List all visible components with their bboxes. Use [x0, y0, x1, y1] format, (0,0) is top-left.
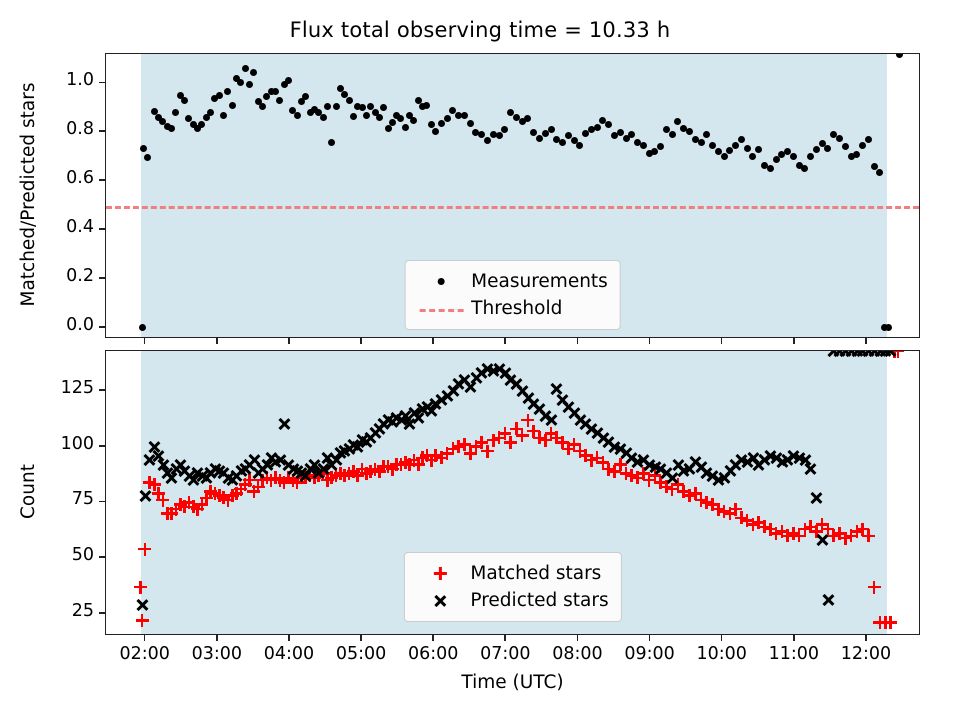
data-point — [867, 580, 882, 595]
data-point — [397, 115, 404, 122]
data-point — [559, 139, 566, 146]
data-point — [363, 112, 370, 119]
legend-label-threshold: Threshold — [465, 298, 562, 319]
data-point — [461, 112, 468, 119]
y-tick-mark — [99, 556, 105, 558]
data-point — [674, 118, 681, 125]
data-point — [350, 113, 357, 120]
x-tick-mark — [504, 338, 506, 344]
x-tick-mark — [216, 338, 218, 344]
data-point — [524, 115, 531, 122]
y-tick-label: 0.0 — [66, 315, 94, 335]
x-tick-label: 11:00 — [754, 644, 834, 664]
y-tick-mark — [99, 501, 105, 503]
data-point — [277, 417, 292, 432]
y-tick-label: 125 — [61, 378, 94, 398]
legend-label-measurements: Measurements — [465, 271, 608, 292]
x-tick-label: 07:00 — [465, 644, 545, 664]
x-tick-label: 10:00 — [682, 644, 762, 664]
y-tick-label: 0.6 — [66, 168, 94, 188]
data-point — [294, 112, 301, 119]
data-point — [229, 102, 236, 109]
figure-canvas: Flux total observing time = 10.33 h Matc… — [0, 0, 960, 720]
y-tick-mark — [99, 445, 105, 447]
data-point — [328, 139, 335, 146]
data-point — [346, 97, 353, 104]
y-tick-mark — [99, 277, 105, 279]
legend-label-predicted-stars: Predicted stars — [464, 590, 608, 611]
y-tick-mark — [99, 179, 105, 181]
data-point — [617, 129, 624, 136]
data-point — [135, 597, 150, 612]
y-axis-label-count: Count — [18, 349, 39, 634]
data-point — [432, 128, 439, 135]
x-tick-label: 03:00 — [177, 644, 257, 664]
x-tick-mark — [865, 635, 867, 641]
legend-item-measurements[interactable]: Measurements — [417, 268, 608, 295]
data-point — [628, 131, 635, 138]
data-point — [385, 125, 392, 132]
data-point — [824, 145, 831, 152]
y-tick-mark — [99, 130, 105, 132]
x-tick-mark — [432, 635, 434, 641]
data-point — [220, 112, 227, 119]
matched-stars-plus-icon — [416, 563, 464, 585]
data-point — [820, 593, 835, 608]
data-point — [140, 145, 147, 152]
data-point — [484, 137, 491, 144]
x-tick-mark — [721, 635, 723, 641]
ratio-panel-legend[interactable]: Measurements Threshold — [404, 260, 621, 330]
data-point — [883, 615, 898, 630]
data-point — [444, 115, 451, 122]
y-tick-label: 0.2 — [66, 266, 94, 286]
data-point — [423, 102, 430, 109]
data-point — [302, 93, 309, 100]
y-tick-mark — [99, 228, 105, 230]
data-point — [548, 126, 555, 133]
data-point — [865, 136, 872, 143]
data-point — [320, 114, 327, 121]
y-tick-mark — [99, 82, 105, 84]
data-point — [242, 65, 249, 72]
legend-item-predicted-stars[interactable]: Predicted stars — [416, 587, 608, 614]
data-point — [133, 580, 148, 595]
x-tick-mark — [432, 338, 434, 344]
data-point — [135, 613, 150, 628]
y-tick-mark — [99, 612, 105, 614]
data-point — [698, 139, 705, 146]
data-point — [496, 132, 503, 139]
legend-label-matched-stars: Matched stars — [464, 563, 601, 584]
data-point — [859, 142, 866, 149]
data-point — [144, 154, 151, 161]
x-tick-label: 06:00 — [393, 644, 473, 664]
x-axis-label: Time (UTC) — [105, 672, 920, 693]
x-tick-mark — [577, 338, 579, 344]
y-tick-label: 1.0 — [66, 70, 94, 90]
data-point — [896, 53, 903, 58]
data-point — [530, 129, 537, 136]
threshold-dash-icon — [417, 298, 465, 320]
y-tick-label: 75 — [72, 489, 94, 509]
y-tick-label: 0.4 — [66, 217, 94, 237]
data-point — [703, 131, 710, 138]
data-point — [380, 104, 387, 111]
page-title: Flux total observing time = 10.33 h — [0, 18, 960, 42]
data-point — [815, 533, 830, 548]
data-point — [803, 462, 818, 477]
x-tick-mark — [360, 338, 362, 344]
x-tick-mark — [793, 338, 795, 344]
data-point — [216, 92, 223, 99]
threshold-line — [106, 206, 919, 209]
data-point — [885, 324, 892, 331]
data-point — [272, 88, 279, 95]
data-point — [749, 153, 756, 160]
y-tick-label: 25 — [72, 601, 94, 621]
data-point — [137, 542, 152, 557]
data-point — [438, 120, 445, 127]
measurements-marker-icon — [417, 271, 465, 293]
data-point — [246, 81, 253, 88]
x-tick-label: 05:00 — [321, 644, 401, 664]
x-tick-mark — [504, 635, 506, 641]
data-point — [501, 126, 508, 133]
x-tick-mark — [144, 635, 146, 641]
x-tick-label: 04:00 — [249, 644, 329, 664]
data-point — [721, 153, 728, 160]
x-tick-mark — [649, 635, 651, 641]
data-point — [237, 79, 244, 86]
data-point — [640, 142, 647, 149]
data-point — [285, 77, 292, 84]
data-point — [605, 121, 612, 128]
x-tick-mark — [721, 338, 723, 344]
x-tick-mark — [649, 338, 651, 344]
legend-item-matched-stars[interactable]: Matched stars — [416, 560, 608, 587]
data-point — [669, 131, 676, 138]
ratio-panel-axes: Measurements Threshold — [105, 53, 920, 338]
data-point — [594, 124, 601, 131]
data-point — [536, 135, 543, 142]
data-point — [732, 142, 739, 149]
x-tick-label: 12:00 — [826, 644, 906, 664]
data-point — [207, 109, 214, 116]
data-point — [738, 136, 745, 143]
y-tick-mark — [99, 389, 105, 391]
data-point — [744, 145, 751, 152]
data-point — [137, 488, 152, 503]
data-point — [376, 114, 383, 121]
data-point — [324, 103, 331, 110]
x-tick-mark — [288, 635, 290, 641]
data-point — [410, 117, 417, 124]
x-tick-mark — [793, 635, 795, 641]
y-tick-mark — [99, 326, 105, 328]
x-tick-mark — [216, 635, 218, 641]
y-tick-label: 0.8 — [66, 119, 94, 139]
data-point — [544, 413, 559, 428]
predicted-stars-cross-icon — [416, 590, 464, 612]
data-point — [139, 324, 146, 331]
data-point — [809, 490, 824, 505]
data-point — [181, 97, 188, 104]
x-tick-mark — [577, 635, 579, 641]
x-tick-mark — [288, 338, 290, 344]
data-point — [198, 121, 205, 128]
y-axis-label-ratio: Matched/Predicted stars — [18, 52, 39, 337]
data-point — [467, 120, 474, 127]
count-panel-axes: Matched stars Predicted stars — [105, 350, 920, 635]
data-point — [250, 69, 257, 76]
x-tick-label: 09:00 — [610, 644, 690, 664]
y-tick-label: 50 — [72, 545, 94, 565]
legend-item-threshold[interactable]: Threshold — [417, 295, 608, 322]
data-point — [657, 143, 664, 150]
data-point — [224, 88, 231, 95]
data-point — [807, 153, 814, 160]
data-point — [259, 103, 266, 110]
count-panel-legend[interactable]: Matched stars Predicted stars — [403, 552, 621, 622]
data-point — [359, 104, 366, 111]
data-point — [686, 128, 693, 135]
data-point — [651, 148, 658, 155]
data-point — [276, 97, 283, 104]
data-point — [801, 165, 808, 172]
data-point — [755, 146, 762, 153]
data-point — [576, 142, 583, 149]
data-point — [389, 119, 396, 126]
data-point — [836, 135, 843, 142]
data-point — [333, 103, 340, 110]
data-point — [853, 151, 860, 158]
data-point — [813, 146, 820, 153]
data-point — [168, 125, 175, 132]
x-tick-label: 08:00 — [537, 644, 617, 664]
y-tick-label: 100 — [61, 434, 94, 454]
data-point — [883, 350, 898, 359]
data-point — [402, 124, 409, 131]
data-point — [842, 143, 849, 150]
x-tick-mark — [144, 338, 146, 344]
data-point — [172, 109, 179, 116]
x-tick-label: 02:00 — [105, 644, 185, 664]
x-tick-mark — [360, 635, 362, 641]
x-tick-mark — [865, 338, 867, 344]
data-point — [790, 153, 797, 160]
data-point — [876, 169, 883, 176]
data-point — [767, 165, 774, 172]
data-point — [861, 528, 876, 543]
